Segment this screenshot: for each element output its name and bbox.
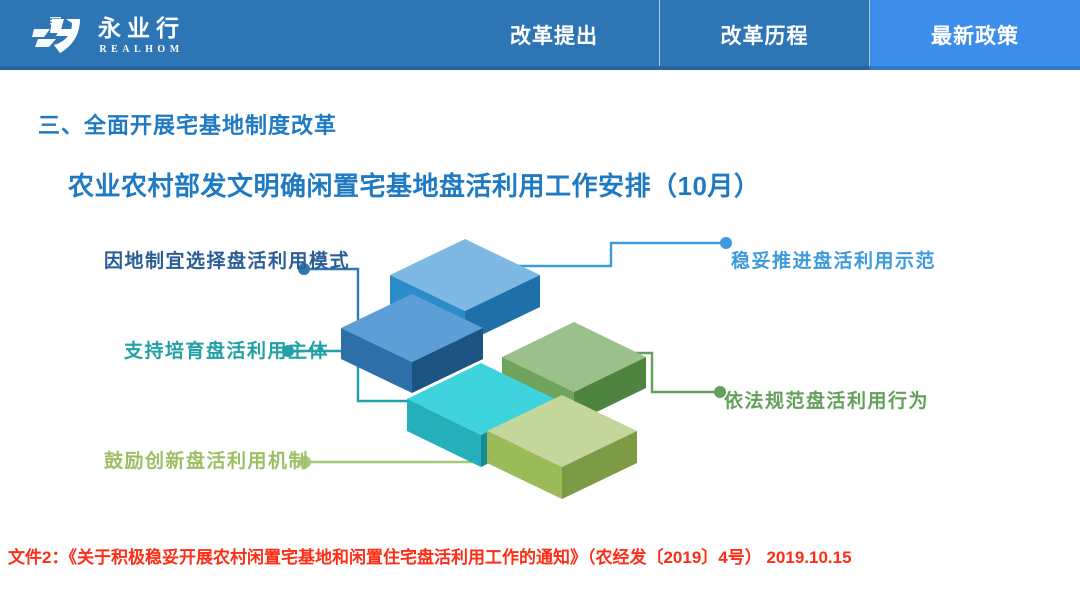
realhom-mark-icon [30, 15, 88, 57]
brand-name-en: REALHOM [99, 44, 183, 55]
diagram-label-subject: 支持培育盘活利用主体 [124, 335, 294, 369]
tab-latest-policy[interactable]: 最新政策 [869, 0, 1080, 70]
tab-reform-proposal[interactable]: 改革提出 [449, 0, 659, 70]
tab-reform-history[interactable]: 改革历程 [659, 0, 869, 70]
source-footnote: 文件2：《关于积极稳妥开展农村闲置宅基地和闲置住宅盘活利用工作的通知》（农经发〔… [8, 543, 1072, 568]
brand-name-cn: 永业行 [98, 17, 185, 41]
brand-wordmark: 永业行 REALHOM [98, 17, 185, 54]
diagram-label-lawful: 依法规范盘活利用行为 [724, 385, 934, 419]
diagram-label-demonstration: 稳妥推进盘活利用示范 [731, 245, 941, 279]
page-title: 农业农村部发文明确闲置宅基地盘活利用工作安排（10月） [68, 166, 760, 203]
active-tab-underline [869, 66, 1080, 70]
brand-logo[interactable]: 永业行 REALHOM [30, 12, 230, 60]
section-heading: 三、全面开展宅基地制度改革 [38, 108, 337, 140]
diagram-label-mode: 因地制宜选择盘活利用模式 [104, 245, 294, 279]
nav-tabs: 改革提出 改革历程 最新政策 [449, 0, 1080, 70]
app-header: 永业行 REALHOM 改革提出 改革历程 最新政策 [0, 0, 1080, 70]
diagram-label-mechanism: 鼓励创新盘活利用机制 [104, 445, 294, 479]
